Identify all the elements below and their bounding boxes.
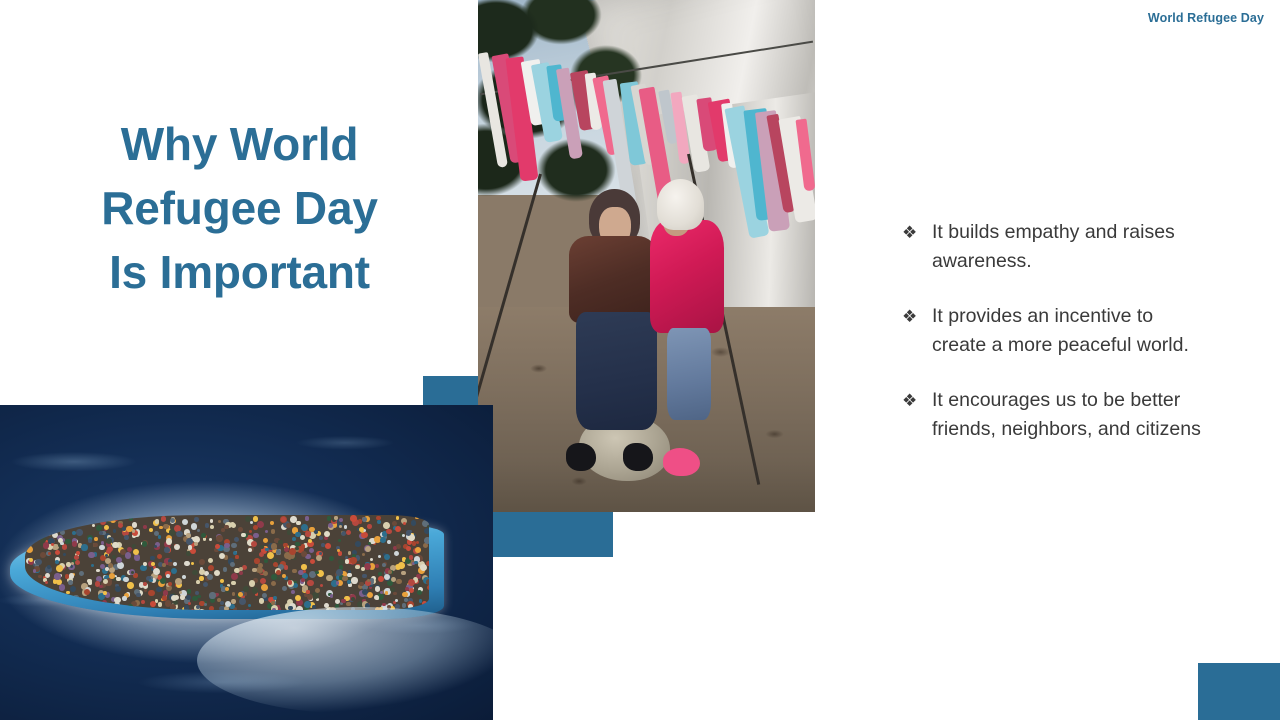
photo-person-dot	[250, 521, 254, 525]
photo-person-dot	[55, 550, 60, 555]
photo-person-dot	[251, 541, 257, 547]
diamond-bullet-icon: ❖	[902, 302, 932, 331]
photo-person-dot	[348, 583, 351, 586]
photo-person-dot	[72, 531, 76, 535]
photo-person-dot	[326, 575, 333, 582]
photo-person-dot	[243, 586, 249, 592]
photo-person-dot	[245, 516, 251, 522]
photo-hanging-laundry	[478, 41, 815, 256]
photo-person-dot	[184, 605, 189, 609]
photo-person-dot	[81, 544, 87, 550]
photo-person-dot	[382, 563, 386, 567]
photo-person-dot	[153, 568, 160, 575]
photo-person-dot	[62, 520, 66, 524]
photo-person-dot	[220, 579, 225, 584]
photo-person-dot	[369, 586, 372, 589]
photo-person-dot	[248, 548, 252, 552]
photo-person-dot	[264, 559, 268, 563]
photo-person-dot	[156, 587, 162, 593]
photo-person-dot	[104, 525, 109, 530]
photo-person-dot	[321, 543, 325, 547]
photo-person-dot	[239, 571, 243, 575]
photo-person-dot	[187, 589, 191, 593]
photo-person-dot	[117, 562, 124, 569]
photo-person-dot	[396, 516, 399, 519]
photo-person-dot	[120, 608, 124, 610]
photo-person-dot	[276, 570, 281, 575]
photo-person-dot	[233, 551, 237, 555]
photo-person-dot	[184, 561, 189, 566]
photo-person-dot	[350, 557, 356, 563]
photo-person-dot	[56, 565, 62, 571]
photo-person-dot	[132, 529, 136, 533]
photo-person-dot	[155, 519, 159, 523]
photo-person-dot	[338, 559, 344, 565]
photo-person-dot	[384, 574, 390, 580]
photo-person-dot	[301, 564, 307, 570]
photo-person-dot	[63, 553, 66, 556]
photo-person-dot	[91, 564, 95, 568]
photo-girl-knit-hat	[657, 179, 704, 230]
photo-person-dot	[88, 552, 95, 559]
photo-person-dot	[231, 523, 236, 528]
photo-person-dot	[114, 602, 120, 608]
photo-person-dot	[305, 531, 310, 536]
photo-person-dot	[122, 527, 126, 531]
photo-person-dot	[271, 529, 275, 533]
photo-person-dot	[424, 528, 429, 534]
photo-person-dot	[295, 542, 299, 546]
photo-person-dot	[415, 515, 418, 518]
photo-person-dot	[383, 522, 390, 529]
photo-person-dot	[141, 600, 146, 605]
photo-person-dot	[150, 556, 155, 561]
photo-person-dot	[286, 523, 291, 528]
photo-person-dot	[47, 565, 51, 569]
photo-person-dot	[144, 589, 147, 592]
photo-person-dot	[194, 517, 199, 522]
photo-person-dot	[260, 578, 266, 584]
photo-person-dot	[347, 580, 351, 584]
photo-person-dot	[330, 594, 334, 598]
photo-person-dot	[173, 562, 177, 566]
photo-person-dot	[128, 604, 133, 609]
photo-person-dot	[315, 588, 320, 593]
photo-person-dot	[163, 524, 168, 529]
photo-person-dot	[402, 603, 407, 608]
photo-person-dot	[259, 598, 265, 604]
photo-person-dot	[248, 604, 251, 607]
photo-person-dot	[401, 571, 405, 575]
photo-person-dot	[60, 542, 63, 545]
photo-person-dot	[364, 563, 371, 570]
photo-person-dot	[196, 580, 200, 584]
photo-person-dot	[382, 603, 385, 606]
list-item-text: It provides an incentive to create a mor…	[932, 302, 1202, 360]
photo-person-dot	[81, 521, 85, 525]
photo-person-dot	[244, 592, 247, 595]
photo-person-dot	[362, 553, 365, 556]
title-line-2: Refugee Day	[62, 176, 417, 240]
photo-person-dot	[292, 537, 296, 541]
photo-boy-trousers	[576, 312, 657, 430]
photo-person-dot	[209, 606, 214, 610]
photo-person-dot	[223, 567, 227, 571]
photo-person-dot	[380, 537, 386, 543]
photo-person-dot	[48, 552, 51, 555]
photo-person-dot	[209, 538, 212, 541]
photo-person-dot	[219, 553, 225, 559]
photo-person-dot	[359, 582, 364, 587]
photo-person-dot	[230, 562, 235, 567]
photo-person-dot	[161, 516, 167, 522]
photo-person-dot	[231, 581, 236, 586]
photo-person-dot	[196, 605, 200, 609]
photo-person-dot	[346, 530, 352, 536]
photo-person-dot	[26, 546, 33, 553]
photo-person-dot	[414, 561, 417, 564]
photo-person-dot	[351, 577, 357, 583]
photo-person-dot	[231, 543, 236, 548]
photo-person-dot	[113, 529, 116, 532]
photo-person-dot	[234, 537, 239, 542]
photo-person-dot	[176, 531, 183, 538]
photo-person-dot	[168, 562, 173, 567]
photo-person-dot	[289, 548, 296, 555]
photo-person-dot	[52, 593, 59, 600]
photo-person-dot	[395, 526, 401, 532]
photo-girl-pink-coat	[650, 220, 724, 333]
overcrowded-refugee-boat-photo	[0, 405, 493, 720]
photo-person-dot	[84, 589, 90, 595]
photo-person-dot	[204, 603, 207, 606]
photo-person-dot	[412, 541, 417, 546]
photo-person-dot	[166, 538, 172, 544]
photo-person-dot	[344, 525, 348, 529]
photo-person-dot	[158, 535, 161, 538]
photo-person-dot	[180, 595, 185, 600]
photo-person-dot	[249, 580, 255, 586]
photo-person-dot	[191, 562, 195, 566]
photo-person-dot	[38, 575, 41, 578]
photo-person-dot	[416, 541, 419, 544]
photo-person-dot	[261, 584, 268, 591]
photo-person-dot	[116, 577, 121, 582]
photo-person-dot	[176, 609, 180, 610]
photo-person-dot	[307, 580, 314, 587]
photo-person-dot	[427, 525, 429, 528]
photo-person-dot	[396, 579, 402, 585]
photo-person-dot	[29, 558, 33, 562]
photo-person-dot	[325, 543, 331, 549]
photo-person-dot	[88, 539, 92, 543]
photo-person-dot	[157, 554, 162, 559]
diamond-bullet-icon: ❖	[902, 386, 932, 415]
photo-person-dot	[162, 563, 166, 567]
photo-person-dot	[123, 577, 129, 583]
photo-person-dot	[403, 522, 406, 525]
photo-person-dot	[376, 516, 381, 521]
photo-person-dot	[296, 606, 302, 610]
photo-person-dot	[338, 539, 341, 542]
photo-person-dot	[150, 601, 156, 607]
photo-person-dot	[160, 578, 166, 584]
photo-person-dot	[224, 606, 229, 610]
photo-person-dot	[186, 538, 193, 545]
photo-person-dot	[205, 523, 209, 527]
photo-person-dot	[93, 543, 97, 547]
photo-person-dot	[282, 574, 286, 578]
photo-person-dot	[37, 586, 41, 590]
photo-person-dot	[124, 535, 128, 539]
photo-boy-shoe-left	[566, 443, 596, 471]
photo-person-dot	[171, 568, 177, 574]
title-line-1: Why World	[62, 112, 417, 176]
photo-person-dot	[424, 537, 429, 544]
photo-person-dot	[375, 564, 379, 568]
photo-person-dot	[69, 573, 75, 579]
photo-person-dot	[282, 586, 287, 591]
photo-person-dot	[263, 538, 268, 543]
photo-person-dot	[182, 519, 188, 525]
photo-person-dot	[271, 581, 276, 586]
photo-person-dot	[163, 590, 169, 596]
photo-person-dot	[105, 554, 108, 557]
photo-person-dot	[56, 579, 62, 585]
photo-person-dot	[99, 531, 103, 535]
photo-person-dot	[310, 559, 315, 564]
photo-person-dot	[99, 545, 105, 551]
slide-header-label: World Refugee Day	[1148, 11, 1264, 25]
photo-person-dot	[345, 559, 349, 563]
photo-person-dot	[235, 555, 238, 558]
photo-person-dot	[301, 578, 305, 582]
photo-person-dot	[263, 571, 268, 576]
photo-person-dot	[253, 533, 258, 538]
photo-person-dot	[351, 597, 355, 601]
photo-person-dot	[210, 519, 213, 522]
photo-person-dot	[265, 530, 268, 533]
photo-person-dot	[208, 558, 213, 563]
photo-person-dot	[143, 525, 147, 529]
photo-person-dot	[208, 565, 214, 571]
photo-person-dot	[368, 542, 371, 545]
photo-person-dot	[316, 555, 322, 561]
photo-person-dot	[284, 565, 288, 569]
title-line-3: Is Important	[62, 240, 417, 304]
photo-person-dot	[231, 599, 236, 604]
photo-person-dot	[292, 569, 297, 574]
photo-person-dot	[191, 523, 198, 530]
photo-person-dot	[406, 530, 411, 535]
photo-person-dot	[398, 562, 405, 569]
photo-person-dot	[36, 529, 43, 536]
photo-person-dot	[92, 524, 95, 527]
photo-person-dot	[96, 525, 102, 531]
photo-person-dot	[132, 544, 136, 548]
photo-person-dot	[131, 571, 134, 574]
photo-person-dot	[305, 516, 310, 521]
photo-person-dot	[301, 544, 305, 548]
photo-person-dot	[415, 547, 421, 553]
photo-person-dot	[127, 582, 133, 588]
photo-person-dot	[136, 593, 141, 598]
photo-boat-wake	[197, 607, 493, 714]
photo-person-dot	[339, 525, 342, 528]
photo-person-dot	[54, 573, 60, 579]
photo-person-dot	[362, 589, 368, 595]
photo-person-dot	[76, 529, 82, 535]
photo-person-dot	[329, 556, 334, 561]
photo-person-dot	[319, 536, 323, 540]
photo-person-dot	[365, 546, 371, 552]
photo-person-dot	[45, 581, 48, 584]
photo-person-dot	[417, 590, 422, 595]
photo-person-dot	[79, 571, 84, 576]
photo-person-dot	[301, 551, 307, 557]
photo-person-dot	[426, 579, 429, 585]
photo-person-dot	[291, 590, 295, 594]
photo-person-dot	[199, 576, 203, 580]
photo-person-dot	[312, 592, 319, 599]
photo-person-dot	[284, 547, 289, 552]
photo-person-dot	[215, 544, 220, 549]
photo-person-dot	[295, 532, 300, 537]
photo-person-dot	[253, 516, 258, 521]
photo-person-dot	[45, 573, 50, 578]
photo-person-dot	[370, 558, 373, 561]
photo-person-dot	[270, 521, 274, 525]
photo-person-dot	[402, 592, 407, 597]
photo-person-dot	[242, 565, 248, 571]
photo-person-dot	[149, 528, 153, 532]
photo-person-dot	[257, 521, 264, 528]
photo-boy-shoe-right	[623, 443, 653, 471]
bullet-list: ❖ It builds empathy and raises awareness…	[902, 218, 1202, 444]
photo-person-dot	[192, 570, 197, 575]
photo-person-dot	[31, 531, 36, 536]
photo-person-dot	[272, 608, 277, 610]
photo-person-dot	[103, 591, 107, 595]
photo-person-dot	[148, 590, 155, 597]
photo-person-dot	[59, 584, 66, 591]
refugee-camp-children-photo	[478, 0, 815, 512]
photo-person-dot	[287, 530, 292, 535]
list-item: ❖ It encourages us to be better friends,…	[902, 386, 1202, 444]
photo-person-dot	[309, 548, 315, 554]
photo-person-dot	[320, 584, 323, 587]
photo-person-dot	[174, 544, 180, 550]
photo-boy-jacket	[569, 236, 657, 323]
photo-person-dot	[427, 608, 429, 610]
photo-person-dot	[238, 592, 243, 597]
photo-person-dot	[408, 579, 415, 586]
photo-person-dot	[122, 596, 126, 600]
photo-person-dot	[210, 525, 214, 529]
photo-person-dot	[134, 554, 140, 560]
photo-person-dot	[115, 586, 121, 592]
photo-person-dot	[409, 555, 413, 559]
photo-person-dot	[66, 591, 70, 595]
photo-person-dot	[199, 559, 205, 565]
photo-person-dot	[361, 567, 366, 572]
photo-person-dot	[276, 549, 281, 554]
photo-person-dot	[380, 591, 383, 594]
photo-person-dot	[301, 524, 308, 531]
photo-person-dot	[68, 580, 72, 584]
photo-person-dot	[411, 520, 417, 526]
photo-girl-jeans	[667, 328, 711, 420]
photo-person-dot	[348, 551, 352, 555]
list-item-text: It builds empathy and raises awareness.	[932, 218, 1202, 276]
photo-person-dot	[271, 574, 277, 580]
photo-person-dot	[103, 579, 108, 584]
photo-person-dot	[249, 530, 252, 533]
photo-person-dot	[355, 565, 359, 569]
photo-person-dot	[328, 523, 333, 528]
photo-person-dot	[406, 546, 411, 551]
photo-person-dot	[231, 573, 238, 580]
photo-person-dot	[166, 574, 170, 578]
photo-person-dot	[239, 598, 246, 605]
photo-person-dot	[427, 585, 429, 590]
accent-block-corner	[1198, 663, 1280, 720]
photo-person-dot	[186, 595, 191, 600]
photo-person-dot	[116, 557, 122, 563]
photo-person-dot	[40, 536, 46, 542]
photo-person-dot	[216, 535, 222, 541]
photo-person-dot	[43, 603, 48, 608]
photo-person-dot	[241, 533, 245, 537]
photo-person-dot	[175, 578, 182, 585]
photo-person-dot	[75, 560, 80, 565]
photo-person-dot	[384, 554, 390, 560]
photo-person-dot	[350, 515, 357, 522]
photo-person-dot	[262, 593, 267, 598]
photo-person-dot	[114, 517, 118, 521]
photo-boat-crowd	[25, 515, 429, 610]
photo-person-dot	[209, 592, 215, 598]
photo-person-dot	[361, 532, 368, 539]
photo-person-dot	[355, 541, 361, 547]
photo-person-dot	[273, 596, 278, 601]
photo-person-dot	[170, 518, 175, 523]
photo-person-dot	[214, 570, 220, 576]
photo-person-dot	[210, 598, 215, 603]
photo-person-dot	[252, 568, 256, 572]
photo-person-dot	[347, 573, 351, 577]
photo-person-dot	[218, 520, 221, 523]
photo-person-dot	[238, 527, 243, 532]
page-title: Why World Refugee Day Is Important	[62, 112, 417, 304]
list-item: ❖ It provides an incentive to create a m…	[902, 302, 1202, 360]
photo-person-dot	[194, 542, 198, 546]
photo-person-dot	[106, 549, 111, 554]
photo-person-dot	[388, 570, 392, 574]
photo-person-dot	[112, 542, 118, 548]
photo-person-dot	[188, 602, 191, 605]
photo-person-dot	[362, 517, 367, 522]
photo-person-dot	[70, 597, 76, 603]
list-item: ❖ It builds empathy and raises awareness…	[902, 218, 1202, 276]
photo-person-dot	[186, 533, 191, 538]
photo-person-dot	[96, 569, 100, 573]
photo-person-dot	[341, 599, 345, 603]
photo-person-dot	[346, 602, 350, 606]
photo-person-dot	[336, 569, 343, 576]
photo-person-dot	[377, 520, 381, 524]
photo-person-dot	[129, 517, 133, 521]
